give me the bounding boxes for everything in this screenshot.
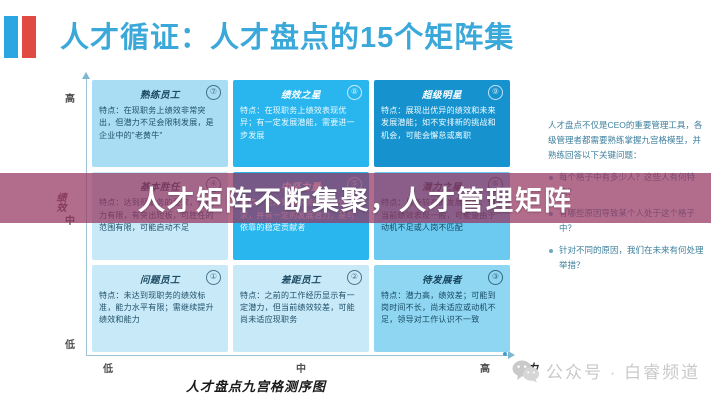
x-tick-mid: 中 bbox=[286, 360, 316, 375]
x-axis-endpoint-dot bbox=[503, 352, 507, 356]
y-tick-low: 低 bbox=[58, 336, 82, 351]
x-tick-low: 低 bbox=[93, 360, 123, 375]
matrix-cell-8-title: 绩效之星 bbox=[240, 87, 362, 101]
matrix-cell-3-title: 待发展者 bbox=[381, 272, 503, 286]
explanation-bullet-3: 针对不同的原因，我们在未来有何处理举措？ bbox=[548, 243, 708, 273]
matrix-cell-2-desc: 特点：之前的工作经历显示有一定潜力，但当前绩效较差，可能尚未适应现职务 bbox=[240, 290, 362, 327]
matrix-cell-8[interactable]: ⑧ 绩效之星 特点：在现职务上绩效表现优异；有一定发展潜能，需要进一步发展 bbox=[233, 80, 369, 167]
footer-watermark-text: 公众号 · 白睿频道 bbox=[546, 358, 700, 383]
matrix-cell-7-number: ⑦ bbox=[206, 85, 221, 100]
matrix-cell-1-title: 问题员工 bbox=[99, 272, 221, 286]
matrix-cell-9-desc: 特点：展现出优异的绩效和未来发展潜能；如不安排新的挑战和机会，可能会懈怠或离职 bbox=[381, 105, 503, 142]
page-title: 人才循证：人才盘点的15个矩阵集 bbox=[60, 14, 514, 56]
y-axis-arrow-icon bbox=[82, 72, 90, 79]
page-header: 人才循证：人才盘点的15个矩阵集 bbox=[0, 0, 711, 72]
x-axis-line bbox=[86, 355, 510, 356]
matrix-cell-3[interactable]: ③ 待发展者 特点：潜力高，绩效差；可能到岗时间不长，尚未适应或动机不足，领导对… bbox=[374, 265, 510, 352]
matrix-cell-9-title: 超级明星 bbox=[381, 87, 503, 101]
logo-bar-blue bbox=[4, 16, 18, 58]
x-tick-high: 高 bbox=[470, 360, 500, 375]
matrix-cell-1-number: ① bbox=[206, 270, 221, 285]
chart-caption: 人才盘点九宫格测序图 bbox=[186, 376, 326, 395]
footer-watermark: 公众号 · 白睿频道 bbox=[512, 358, 700, 383]
matrix-cell-9-number: ⑨ bbox=[488, 85, 503, 100]
explanation-paragraph: 人才盘点不仅是CEO的重要管理工具，各级管理者都需要熟练掌握九宫格模型，并熟练回… bbox=[548, 118, 708, 163]
overlay-banner: 人才矩阵不断集聚，人才管理矩阵 bbox=[0, 173, 711, 223]
matrix-cell-7-title: 熟练员工 bbox=[99, 87, 221, 101]
slide-page: 人才循证：人才盘点的15个矩阵集 高 中 低 低 中 高 潜力 绩效 ⑦ 熟练员… bbox=[0, 0, 711, 400]
matrix-cell-1[interactable]: ① 问题员工 特点：未达到现职务的绩效标准，能力水平有限；需继续提升绩效和能力 bbox=[92, 265, 228, 352]
matrix-cell-9[interactable]: ⑨ 超级明星 特点：展现出优异的绩效和未来发展潜能；如不安排新的挑战和机会，可能… bbox=[374, 80, 510, 167]
matrix-cell-1-desc: 特点：未达到现职务的绩效标准，能力水平有限；需继续提升绩效和能力 bbox=[99, 290, 221, 327]
matrix-cell-3-desc: 特点：潜力高，绩效差；可能到岗时间不长，尚未适应或动机不足，领导对工作认识不一致 bbox=[381, 290, 503, 327]
matrix-cell-2-number: ② bbox=[347, 270, 362, 285]
matrix-cell-2[interactable]: ② 差距员工 特点：之前的工作经历显示有一定潜力，但当前绩效较差，可能尚未适应现… bbox=[233, 265, 369, 352]
overlay-banner-text: 人才矩阵不断集聚，人才管理矩阵 bbox=[138, 179, 573, 218]
matrix-cell-8-number: ⑧ bbox=[347, 85, 362, 100]
logo-bar-red bbox=[22, 16, 36, 58]
wechat-icon bbox=[512, 359, 540, 383]
matrix-cell-2-title: 差距员工 bbox=[240, 272, 362, 286]
matrix-cell-3-number: ③ bbox=[488, 270, 503, 285]
y-tick-high: 高 bbox=[58, 90, 82, 105]
matrix-cell-8-desc: 特点：在现职务上绩效表现优异；有一定发展潜能，需要进一步发展 bbox=[240, 105, 362, 142]
matrix-cell-7-desc: 特点：在现职务上绩效非常突出，但潜力不足会限制发展，是企业中的"老黄牛" bbox=[99, 105, 221, 142]
matrix-cell-7[interactable]: ⑦ 熟练员工 特点：在现职务上绩效非常突出，但潜力不足会限制发展，是企业中的"老… bbox=[92, 80, 228, 167]
